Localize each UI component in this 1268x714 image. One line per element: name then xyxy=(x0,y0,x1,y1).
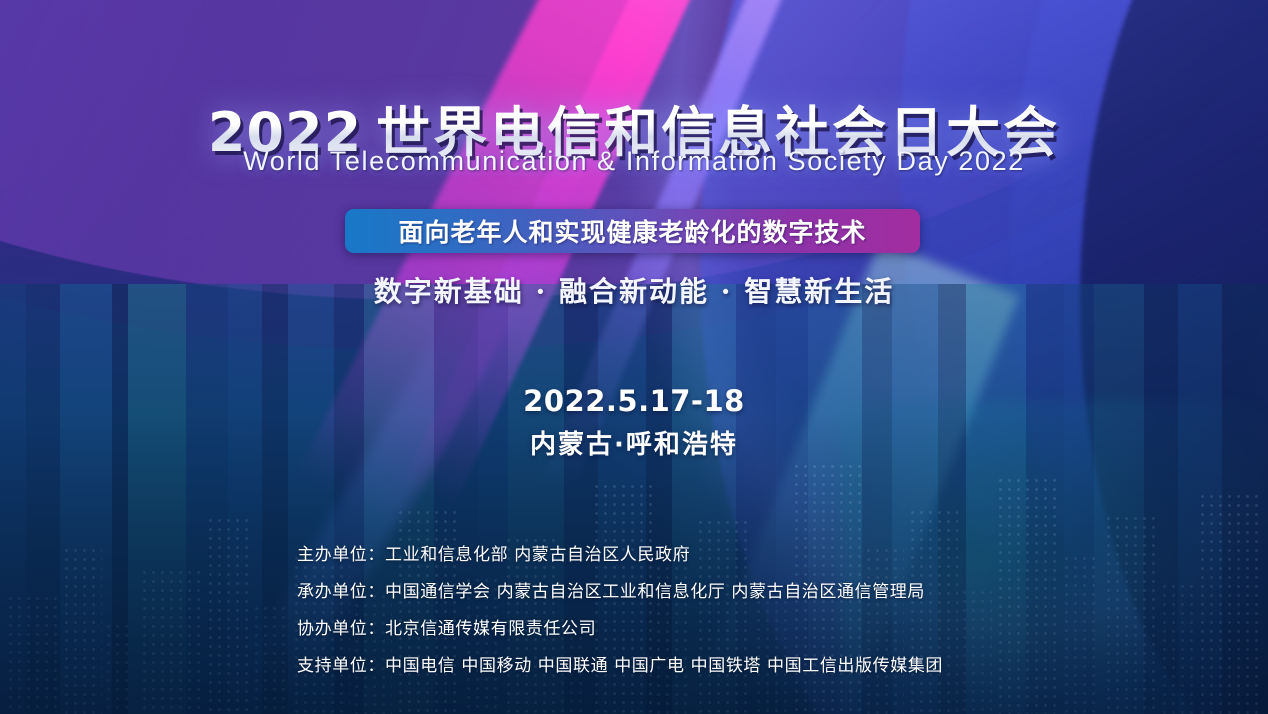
event-poster: 2022世界电信和信息社会日大会 World Telecommunication… xyxy=(0,0,1268,714)
organizer-credits: 主办单位：工业和信息化部 内蒙古自治区人民政府 承办单位：中国通信学会 内蒙古自… xyxy=(297,540,943,676)
credit-line-supporters: 支持单位：中国电信 中国移动 中国联通 中国广电 中国铁塔 中国工信出版传媒集团 xyxy=(297,651,943,676)
credit-line-coorganizer: 协办单位：北京信通传媒有限责任公司 xyxy=(297,614,943,639)
credit-line-organizer: 承办单位：中国通信学会 内蒙古自治区工业和信息化厅 内蒙古自治区通信管理局 xyxy=(297,577,943,602)
theme-banner: 面向老年人和实现健康老龄化的数字技术 xyxy=(345,209,920,253)
theme-banner-label: 面向老年人和实现健康老龄化的数字技术 xyxy=(398,213,866,249)
event-location: 内蒙古·呼和浩特 xyxy=(0,424,1268,461)
event-date: 2022.5.17-18 xyxy=(0,384,1268,418)
credit-line-host: 主办单位：工业和信息化部 内蒙古自治区人民政府 xyxy=(297,540,943,565)
poster-content: 2022世界电信和信息社会日大会 World Telecommunication… xyxy=(0,0,1268,714)
tagline: 数字新基础 · 融合新动能 · 智慧新生活 xyxy=(0,270,1268,310)
title-english: World Telecommunication & Information So… xyxy=(0,146,1268,177)
